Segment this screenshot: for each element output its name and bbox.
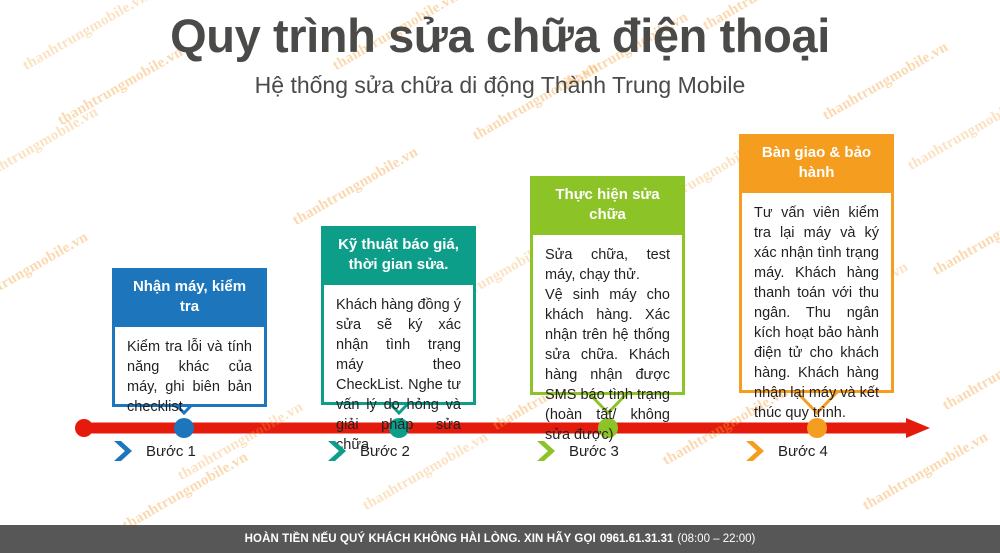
timeline-dot-step-1 bbox=[174, 418, 194, 438]
step-card-4-body: Tư vấn viên kiểm tra lại máy và ký xác n… bbox=[739, 193, 894, 393]
step-label-1[interactable]: Bước 1 bbox=[113, 440, 196, 462]
timeline-start-dot bbox=[75, 419, 93, 437]
chevron-right-icon bbox=[536, 440, 560, 462]
footer-phone[interactable]: 0961.61.31.31 bbox=[600, 533, 674, 545]
step-card-3[interactable]: Thực hiện sửa chữa Sửa chữa, test máy, c… bbox=[530, 176, 685, 395]
step-label-4[interactable]: Bước 4 bbox=[745, 440, 828, 462]
infographic-canvas: thanhtrungmobile.vnthanhtrungmobile.vnth… bbox=[0, 0, 1000, 553]
step-card-3-heading: Thực hiện sửa chữa bbox=[530, 176, 685, 235]
chevron-right-icon bbox=[113, 440, 137, 462]
chevron-right-icon bbox=[745, 440, 769, 462]
step-label-2-text: Bước 2 bbox=[360, 443, 410, 460]
step-card-1-heading: Nhận máy, kiểm tra bbox=[112, 268, 267, 327]
step-label-3-text: Bước 3 bbox=[569, 443, 619, 460]
step-label-1-text: Bước 1 bbox=[146, 443, 196, 460]
step-card-2-body: Khách hàng đồng ý sửa sẽ ký xác nhận tìn… bbox=[321, 285, 476, 405]
step-card-1[interactable]: Nhận máy, kiểm tra Kiểm tra lỗi và tính … bbox=[112, 268, 267, 407]
chevron-right-icon bbox=[327, 440, 351, 462]
step-label-3[interactable]: Bước 3 bbox=[536, 440, 619, 462]
step-card-2[interactable]: Kỹ thuật báo giá, thời gian sửa. Khách h… bbox=[321, 226, 476, 405]
step-card-2-heading: Kỹ thuật báo giá, thời gian sửa. bbox=[321, 226, 476, 285]
step-card-4-heading: Bàn giao & bảo hành bbox=[739, 134, 894, 193]
footer-text: HOÀN TIỀN NẾU QUÝ KHÁCH KHÔNG HÀI LÒNG. … bbox=[245, 533, 596, 545]
footer-hours: (08:00 – 22:00) bbox=[677, 533, 755, 545]
page-title: Quy trình sửa chữa điện thoại bbox=[0, 8, 1000, 63]
footer-bar: HOÀN TIỀN NẾU QUÝ KHÁCH KHÔNG HÀI LÒNG. … bbox=[0, 525, 1000, 553]
step-card-1-body: Kiểm tra lỗi và tính năng khác của máy, … bbox=[112, 327, 267, 407]
step-label-4-text: Bước 4 bbox=[778, 443, 828, 460]
step-card-4[interactable]: Bàn giao & bảo hành Tư vấn viên kiểm tra… bbox=[739, 134, 894, 393]
page-subtitle: Hệ thống sửa chữa di động Thành Trung Mo… bbox=[0, 72, 1000, 99]
step-label-2[interactable]: Bước 2 bbox=[327, 440, 410, 462]
step-card-3-body: Sửa chữa, test máy, chạy thử. Vệ sinh má… bbox=[530, 235, 685, 395]
timeline-arrow-head bbox=[906, 418, 930, 438]
